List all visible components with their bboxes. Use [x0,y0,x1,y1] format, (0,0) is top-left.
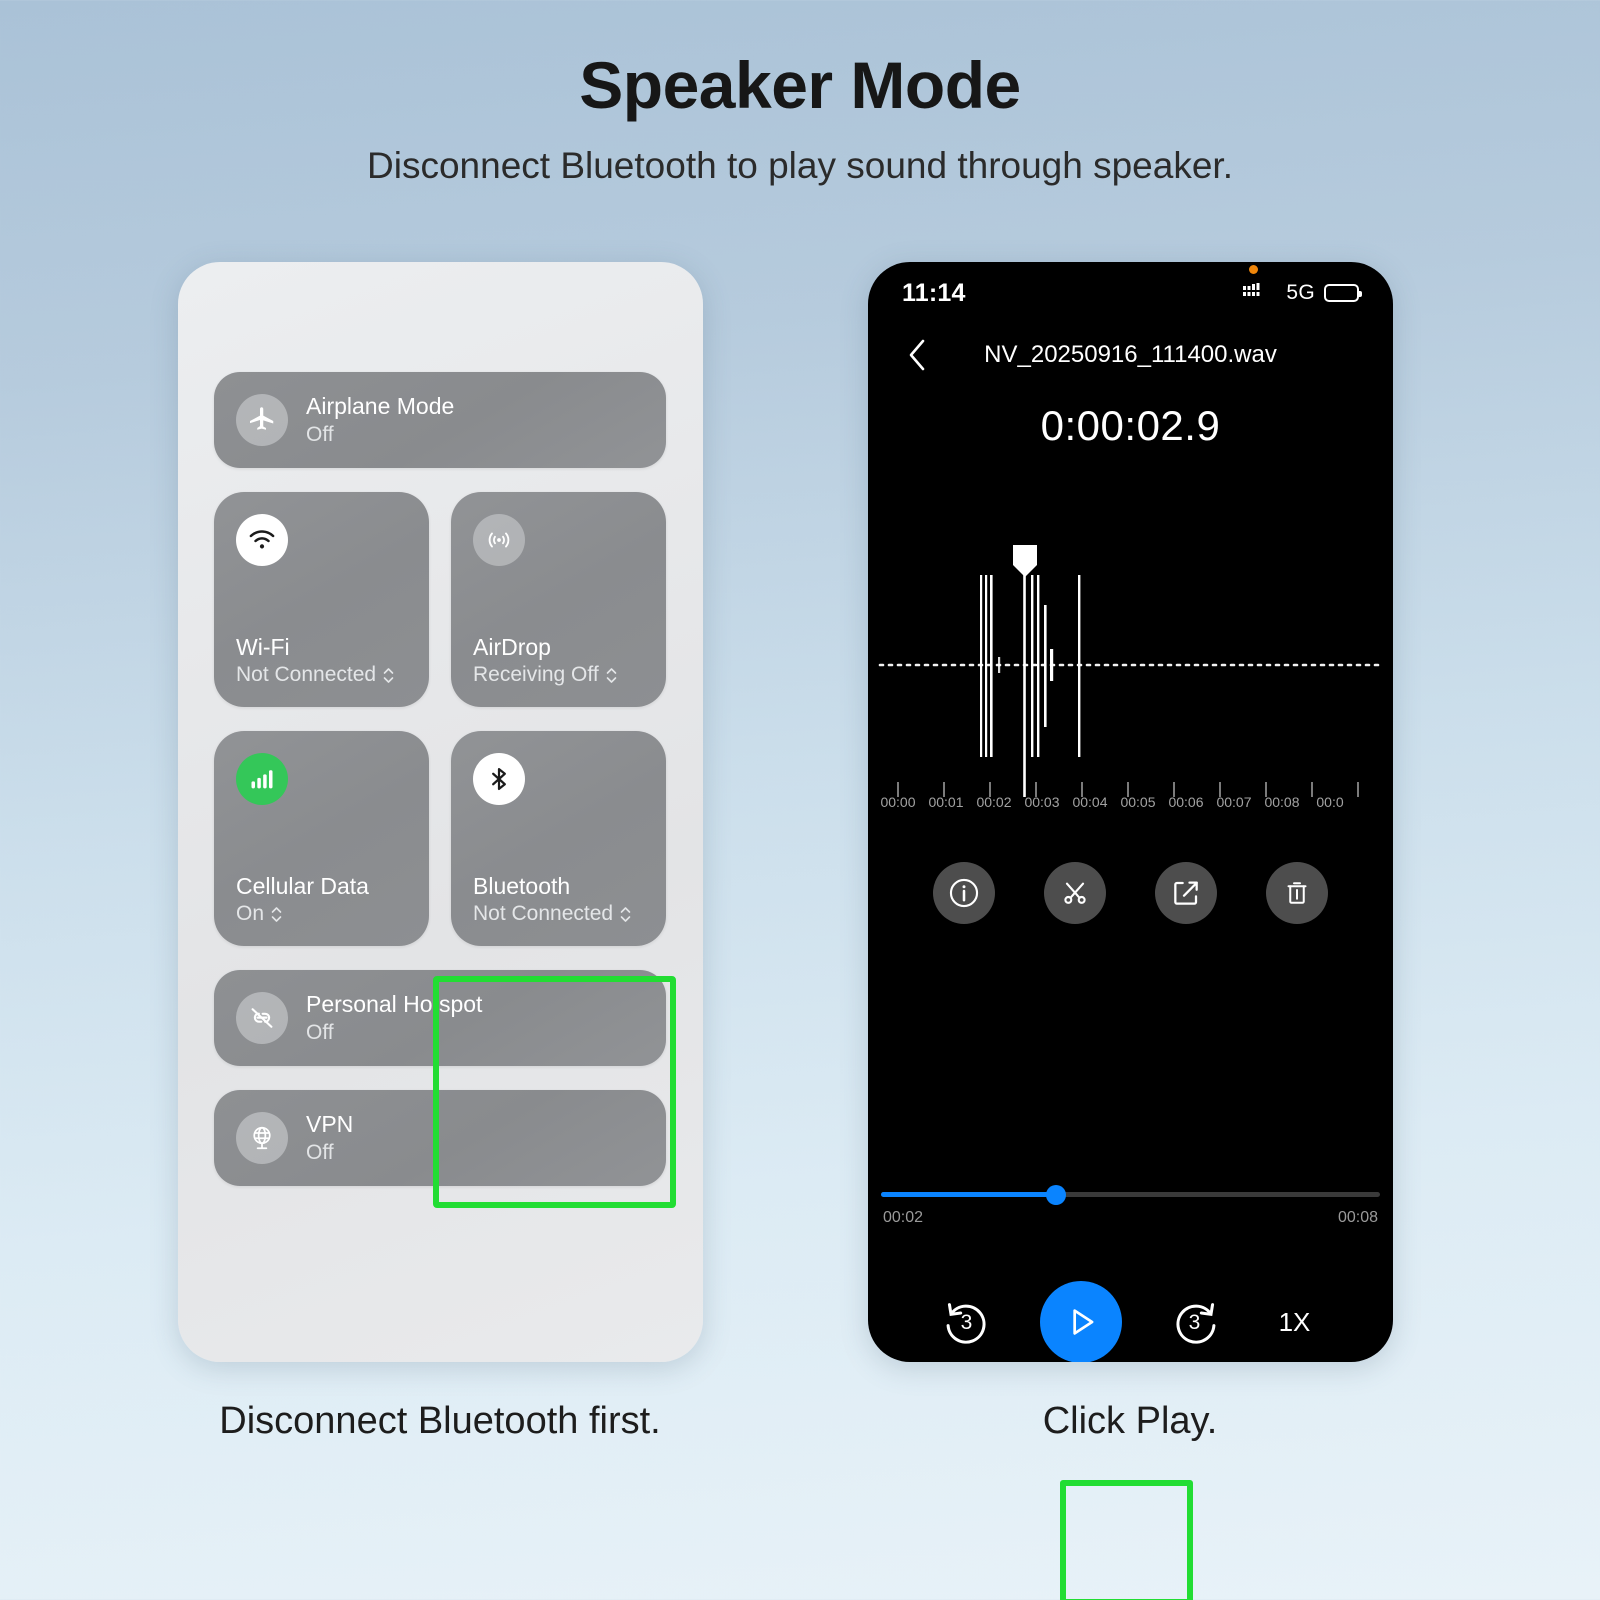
timeline-labels: 00:00 00:01 00:02 00:03 00:04 00:05 00:0… [868,794,1393,810]
seek-times: 00:02 00:08 [868,1197,1393,1227]
seek-track[interactable] [881,1192,1380,1197]
control-airdrop-text: AirDrop Receiving Off [473,634,617,687]
control-airdrop-tile[interactable]: AirDrop Receiving Off [451,492,666,707]
status-bar-network: 5G [1286,281,1315,305]
control-center-phone: Airplane Mode Off Wi-Fi [178,262,703,1362]
control-cellular-title: Cellular Data [236,873,369,899]
control-pair-cellular-bluetooth: Cellular Data On [214,731,666,946]
trim-button[interactable] [1044,862,1106,924]
control-airplane-text: Airplane Mode Off [306,394,454,446]
airplane-icon [236,394,288,446]
forward-3-button[interactable]: 3 [1168,1295,1222,1349]
recorder-timer: 0:00:02.9 [868,402,1393,450]
play-highlight-box [1060,1480,1193,1600]
seek-thumb[interactable] [1046,1185,1066,1205]
share-button[interactable] [1155,862,1217,924]
timeline-label: 00:08 [1258,794,1306,810]
panels-container: Airplane Mode Off Wi-Fi [0,262,1600,1382]
battery-icon [1324,284,1359,302]
page-title: Speaker Mode [0,52,1600,118]
timeline-label: 00:02 [970,794,1018,810]
control-airdrop-status: Receiving Off [473,663,599,687]
control-hotspot-title: Personal Hotspot [306,992,482,1018]
hotspot-off-icon [236,992,288,1044]
control-airplane-status: Off [306,423,454,447]
seek-fill [881,1192,1056,1197]
control-bluetooth-title: Bluetooth [473,873,631,899]
timeline-label: 00:03 [1018,794,1066,810]
cellular-bars-icon [236,753,288,805]
control-wifi-text: Wi-Fi Not Connected [236,634,394,687]
forward-seconds-label: 3 [1189,1311,1201,1335]
timeline-label: 00:07 [1210,794,1258,810]
control-wifi-status: Not Connected [236,663,376,687]
chevron-up-down-icon [383,666,394,685]
page-subtitle: Disconnect Bluetooth to play sound throu… [0,146,1600,187]
recorder-action-row [868,862,1393,924]
control-vpn-status: Off [306,1141,353,1165]
control-vpn-text: VPN Off [306,1112,353,1164]
scissors-icon [1059,877,1091,909]
privacy-dot-icon [1249,265,1258,274]
control-cellular-status-row: On [236,902,369,926]
waveform-area[interactable] [868,517,1393,817]
timeline-label: 00:05 [1114,794,1162,810]
vpn-globe-icon [236,1112,288,1164]
rewind-3-button[interactable]: 3 [940,1295,994,1349]
control-bluetooth-text: Bluetooth Not Connected [473,873,631,926]
chevron-up-down-icon [271,905,282,924]
control-personal-hotspot[interactable]: Personal Hotspot Off [214,970,666,1066]
control-vpn-title: VPN [306,1112,353,1138]
control-bluetooth-tile[interactable]: Bluetooth Not Connected [451,731,666,946]
status-bar-time: 11:14 [902,279,966,308]
seek-bar-container: 00:02 00:08 [868,1192,1393,1227]
timeline-label: 00:0 [1306,794,1354,810]
control-cellular-tile[interactable]: Cellular Data On [214,731,429,946]
play-icon [1062,1303,1100,1341]
control-wifi-status-row: Not Connected [236,663,394,687]
control-cellular-status: On [236,902,264,926]
info-button[interactable] [933,862,995,924]
caption-left: Disconnect Bluetooth first. [130,1400,750,1443]
control-airdrop-title: AirDrop [473,634,617,660]
control-cellular-text: Cellular Data On [236,873,369,926]
recorder-filename: NV_20250916_111400.wav [868,341,1393,369]
control-airplane-mode[interactable]: Airplane Mode Off [214,372,666,468]
control-airdrop-status-row: Receiving Off [473,663,617,687]
trash-icon [1282,878,1312,908]
info-circle-icon [947,876,981,910]
recorder-navbar: NV_20250916_111400.wav [868,324,1393,386]
control-vpn[interactable]: VPN Off [214,1090,666,1186]
timeline-label: 00:00 [874,794,922,810]
delete-button[interactable] [1266,862,1328,924]
rewind-seconds-label: 3 [961,1311,973,1335]
share-icon [1170,877,1202,909]
waveform-svg [868,517,1393,817]
airdrop-icon [473,514,525,566]
playback-speed-button[interactable]: 1X [1268,1307,1322,1338]
recorder-phone: 11:14 5G [868,262,1393,1362]
play-button[interactable] [1040,1281,1122,1362]
control-bluetooth-status: Not Connected [473,902,613,926]
control-center-list: Airplane Mode Off Wi-Fi [214,372,666,1210]
seek-total-time: 00:08 [1338,1209,1378,1227]
timeline-label: 00:06 [1162,794,1210,810]
bluetooth-icon [473,753,525,805]
playhead [1013,545,1037,797]
timeline-label: 00:04 [1066,794,1114,810]
chevron-up-down-icon [620,905,631,924]
caption-right: Click Play. [880,1400,1380,1443]
transport-controls: 3 3 1X [868,1267,1393,1362]
header: Speaker Mode Disconnect Bluetooth to pla… [0,0,1600,187]
signal-bars-icon [1243,282,1277,304]
back-button[interactable] [898,336,936,374]
chevron-up-down-icon [606,666,617,685]
seek-current-time: 00:02 [883,1209,923,1227]
control-hotspot-status: Off [306,1021,482,1045]
control-pair-wifi-airdrop: Wi-Fi Not Connected [214,492,666,707]
chevron-left-icon [907,338,927,372]
control-hotspot-text: Personal Hotspot Off [306,992,482,1044]
control-bluetooth-status-row: Not Connected [473,902,631,926]
control-wifi-tile[interactable]: Wi-Fi Not Connected [214,492,429,707]
status-bar-indicators: 5G [1243,281,1359,305]
timeline-label: 00:01 [922,794,970,810]
control-airplane-title: Airplane Mode [306,394,454,420]
status-bar: 11:14 5G [868,262,1393,324]
wifi-icon [236,514,288,566]
control-wifi-title: Wi-Fi [236,634,394,660]
